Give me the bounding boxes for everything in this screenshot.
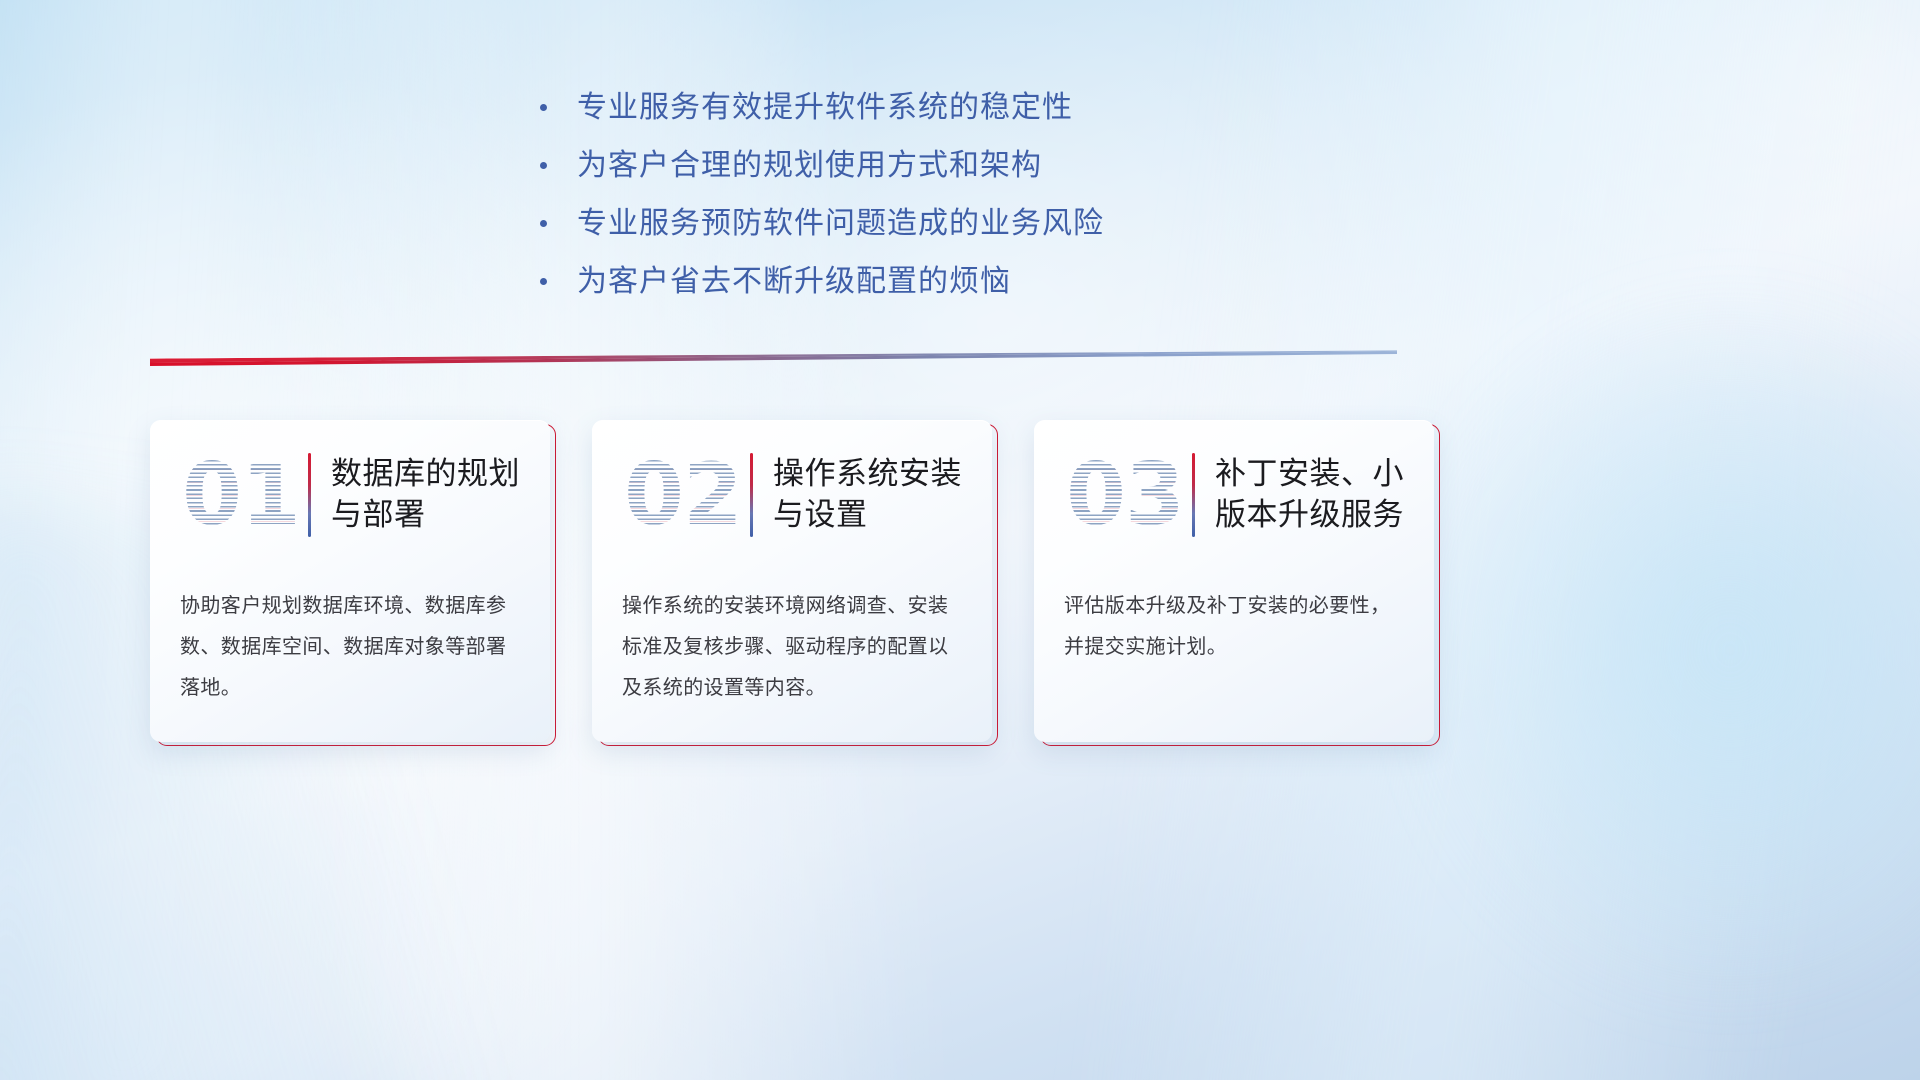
card-divider-rule [750, 453, 753, 537]
slide-canvas: 专业服务有效提升软件系统的稳定性 为客户合理的规划使用方式和架构 专业服务预防软… [0, 0, 1920, 1080]
bullet-label: 为客户合理的规划使用方式和架构 [577, 146, 1042, 185]
service-card[interactable]: 01 01 数据库的规划与部署 协助客户规划数据库环境、数据库参数、数据库空间、… [150, 420, 550, 742]
card-number-badge: 01 01 [176, 443, 306, 547]
card-panel: 03 03 补丁安装、小版本升级服务 评估版本升级及补丁安装的必要性，并提交实施… [1034, 420, 1434, 742]
card-divider-rule [308, 453, 311, 537]
card-title: 补丁安装、小版本升级服务 [1215, 454, 1434, 536]
section-divider [150, 348, 1397, 366]
card-title: 数据库的规划与部署 [331, 454, 550, 536]
card-number-badge: 03 03 [1060, 443, 1190, 547]
card-divider-rule [1192, 453, 1195, 537]
bullet-dot-icon [540, 278, 547, 285]
card-header: 02 02 操作系统安装与设置 [592, 420, 992, 570]
bullet-dot-icon [540, 162, 547, 169]
list-item: 为客户省去不断升级配置的烦恼 [540, 262, 1360, 301]
card-number-label: 03 [1060, 443, 1190, 547]
card-panel: 02 02 操作系统安装与设置 操作系统的安装环境网络调查、安装标准及复核步骤、… [592, 420, 992, 742]
service-card[interactable]: 02 02 操作系统安装与设置 操作系统的安装环境网络调查、安装标准及复核步骤、… [592, 420, 992, 742]
bullet-label: 为客户省去不断升级配置的烦恼 [577, 262, 1011, 301]
card-header: 01 01 数据库的规划与部署 [150, 420, 550, 570]
card-number-label: 01 [176, 443, 306, 547]
bullet-dot-icon [540, 220, 547, 227]
card-description: 协助客户规划数据库环境、数据库参数、数据库空间、数据库对象等部署落地。 [180, 586, 524, 710]
bullet-label: 专业服务预防软件问题造成的业务风险 [577, 204, 1104, 243]
benefits-bullet-list: 专业服务有效提升软件系统的稳定性 为客户合理的规划使用方式和架构 专业服务预防软… [540, 88, 1360, 320]
list-item: 为客户合理的规划使用方式和架构 [540, 146, 1360, 185]
card-header: 03 03 补丁安装、小版本升级服务 [1034, 420, 1434, 570]
card-number-badge: 02 02 [618, 443, 748, 547]
service-card[interactable]: 03 03 补丁安装、小版本升级服务 评估版本升级及补丁安装的必要性，并提交实施… [1034, 420, 1434, 742]
list-item: 专业服务有效提升软件系统的稳定性 [540, 88, 1360, 127]
card-number-label: 02 [618, 443, 748, 547]
card-description: 操作系统的安装环境网络调查、安装标准及复核步骤、驱动程序的配置以及系统的设置等内… [622, 586, 966, 710]
card-description: 评估版本升级及补丁安装的必要性，并提交实施计划。 [1064, 586, 1408, 668]
bullet-dot-icon [540, 104, 547, 111]
bullet-label: 专业服务有效提升软件系统的稳定性 [577, 88, 1073, 127]
card-panel: 01 01 数据库的规划与部署 协助客户规划数据库环境、数据库参数、数据库空间、… [150, 420, 550, 742]
service-card-list: 01 01 数据库的规划与部署 协助客户规划数据库环境、数据库参数、数据库空间、… [150, 420, 1770, 750]
list-item: 专业服务预防软件问题造成的业务风险 [540, 204, 1360, 243]
card-title: 操作系统安装与设置 [773, 454, 992, 536]
